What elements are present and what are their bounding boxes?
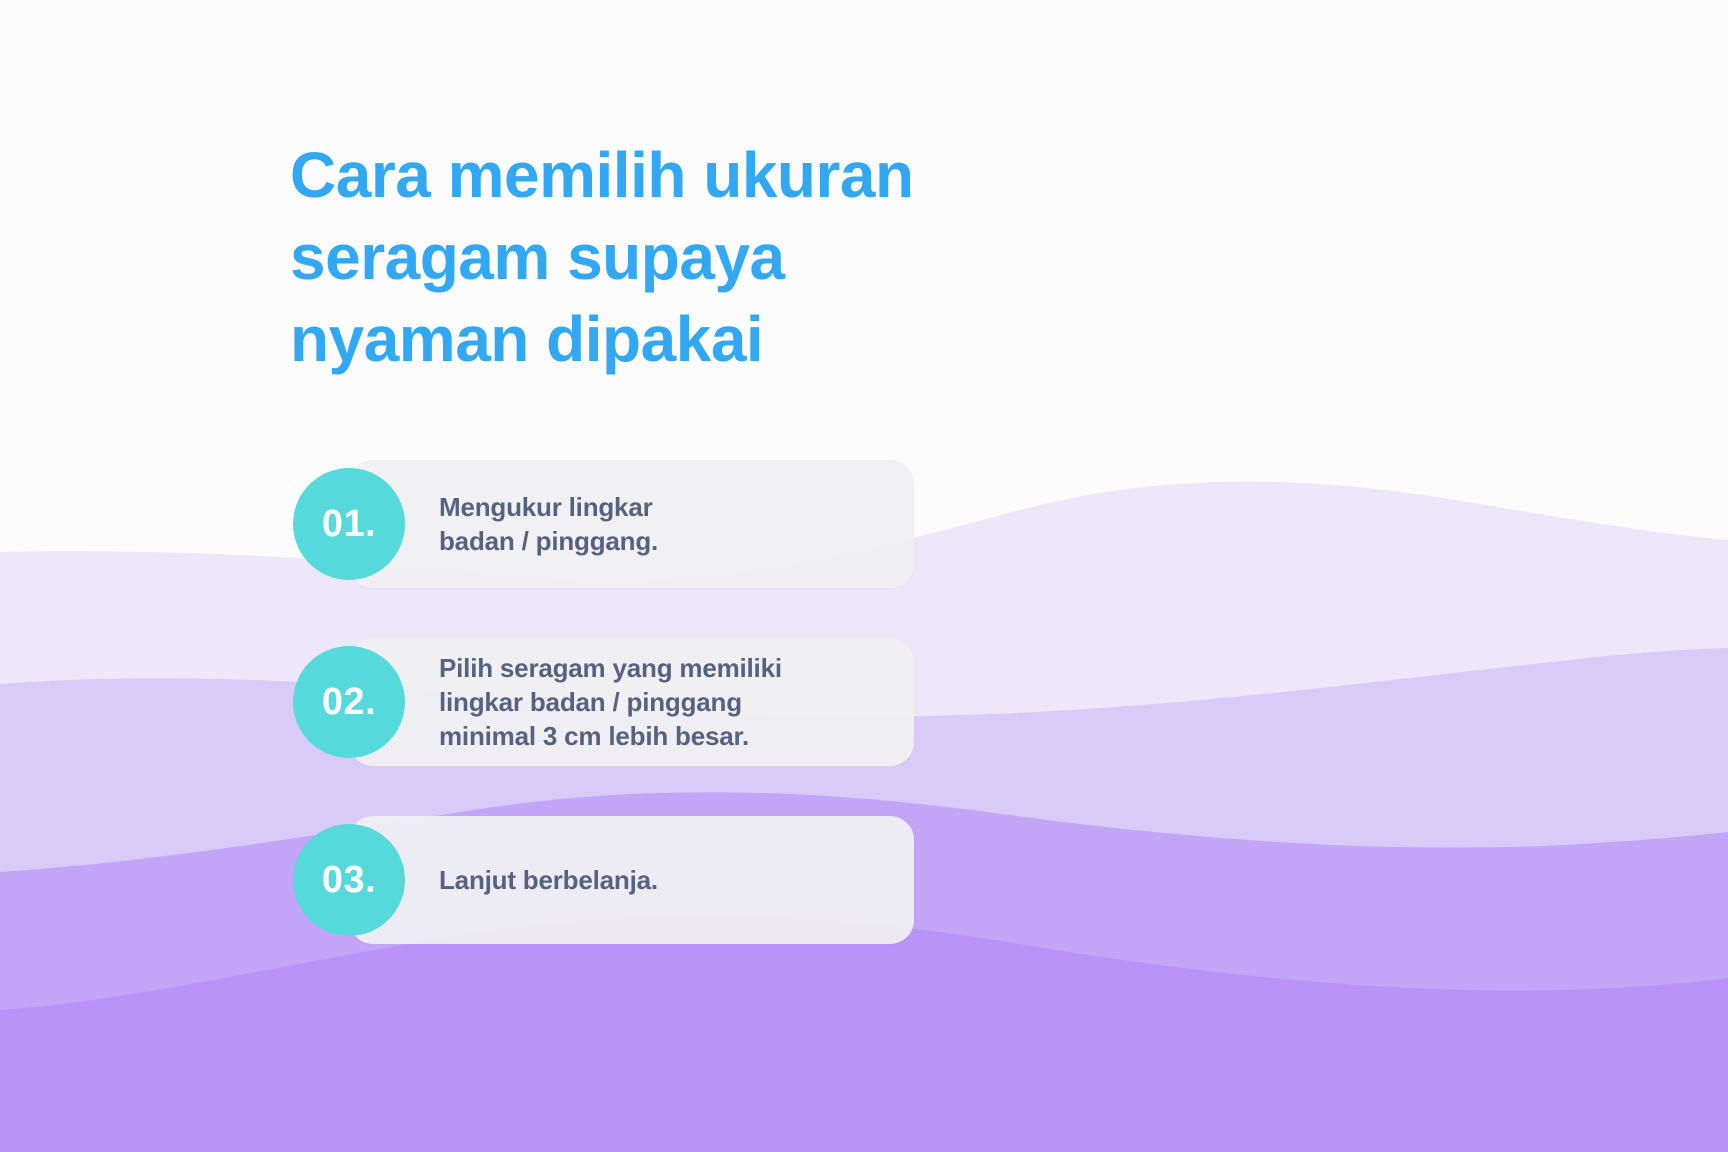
- step-description: Mengukur lingkar badan / pinggang.: [439, 490, 678, 559]
- list-item: 01. Mengukur lingkar badan / pinggang.: [293, 460, 913, 588]
- title-line-3: nyaman dipakai: [290, 299, 1090, 381]
- step-description: Pilih seragam yang memiliki lingkar bada…: [439, 651, 802, 754]
- list-item: 02. Pilih seragam yang memiliki lingkar …: [293, 638, 913, 766]
- step-number-badge: 03.: [293, 824, 405, 936]
- step-number-badge: 02.: [293, 646, 405, 758]
- step-number-label: 03.: [322, 861, 376, 899]
- step-number-badge: 01.: [293, 468, 405, 580]
- step-description: Lanjut berbelanja.: [439, 863, 678, 897]
- step-number-label: 01.: [322, 505, 376, 543]
- step-number-label: 02.: [322, 683, 376, 721]
- page-title: Cara memilih ukuran seragam supaya nyama…: [290, 135, 1090, 381]
- title-line-2: seragam supaya: [290, 217, 1090, 299]
- steps-list: 01. Mengukur lingkar badan / pinggang. 0…: [293, 460, 913, 944]
- list-item: 03. Lanjut berbelanja.: [293, 816, 913, 944]
- poster-canvas: Cara memilih ukuran seragam supaya nyama…: [0, 0, 1728, 1152]
- title-line-1: Cara memilih ukuran: [290, 135, 1090, 217]
